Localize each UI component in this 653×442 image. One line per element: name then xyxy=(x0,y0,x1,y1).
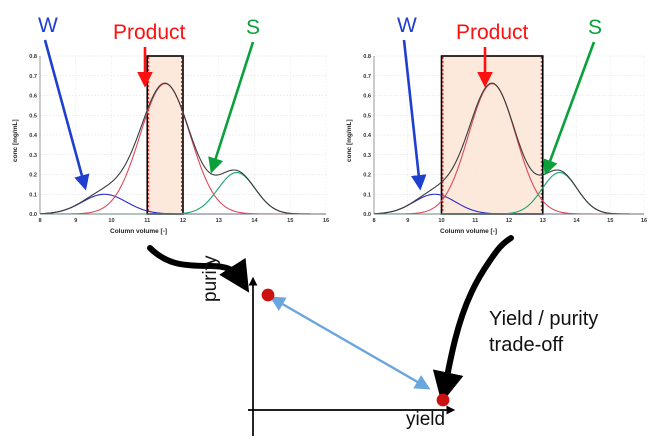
collection-window xyxy=(147,56,183,214)
peak-label-s-left: S xyxy=(246,17,260,38)
svg-text:0.8: 0.8 xyxy=(363,54,371,60)
svg-text:9: 9 xyxy=(74,218,77,224)
tradeoff-y-axis-label: purity xyxy=(200,256,222,302)
svg-text:0.4: 0.4 xyxy=(363,133,372,139)
svg-text:15: 15 xyxy=(287,218,293,224)
tradeoff-point-high-purity xyxy=(262,289,275,302)
svg-text:0.1: 0.1 xyxy=(363,192,371,198)
tradeoff-caption-line2: trade-off xyxy=(489,333,649,359)
svg-text:0.7: 0.7 xyxy=(29,74,37,80)
svg-text:0.8: 0.8 xyxy=(29,54,37,60)
svg-text:0.0: 0.0 xyxy=(29,212,37,218)
svg-text:14: 14 xyxy=(573,218,580,224)
svg-text:0.7: 0.7 xyxy=(363,74,371,80)
tradeoff-caption: Yield / purity trade-off xyxy=(489,307,649,358)
svg-text:0.5: 0.5 xyxy=(29,113,37,119)
svg-text:12: 12 xyxy=(506,218,512,224)
svg-text:0.0: 0.0 xyxy=(363,212,371,218)
svg-text:0.1: 0.1 xyxy=(29,192,37,198)
svg-text:14: 14 xyxy=(251,218,258,224)
svg-text:10: 10 xyxy=(438,218,444,224)
svg-text:16: 16 xyxy=(641,218,647,224)
svg-text:8: 8 xyxy=(38,218,41,224)
collection-window xyxy=(442,56,543,214)
svg-text:0.3: 0.3 xyxy=(363,153,371,159)
tradeoff-caption-line1: Yield / purity xyxy=(489,307,649,333)
svg-text:0.5: 0.5 xyxy=(363,113,371,119)
svg-text:0.6: 0.6 xyxy=(29,94,37,100)
chromatogram-wide-cut-svg: 0.00.10.20.30.40.50.60.70.88910111213141… xyxy=(348,50,648,240)
svg-text:0.4: 0.4 xyxy=(29,133,38,139)
tradeoff-x-axis-label: yield xyxy=(406,409,445,431)
svg-text:8: 8 xyxy=(372,218,375,224)
peak-label-w-left: W xyxy=(38,15,58,36)
svg-text:16: 16 xyxy=(323,218,329,224)
flow-arrow-left-to-purity-point xyxy=(150,248,243,283)
tradeoff-connector-arrow xyxy=(272,298,428,388)
svg-text:0.3: 0.3 xyxy=(29,153,37,159)
svg-text:0.2: 0.2 xyxy=(29,173,37,179)
figure-canvas: 0.00.10.20.30.40.50.60.70.88910111213141… xyxy=(0,0,653,442)
svg-text:10: 10 xyxy=(108,218,114,224)
peak-label-w-right: W xyxy=(397,15,417,36)
svg-text:13: 13 xyxy=(216,218,222,224)
chromatogram-narrow-cut-svg: 0.00.10.20.30.40.50.60.70.88910111213141… xyxy=(14,50,330,240)
tradeoff-point-high-yield xyxy=(437,394,450,407)
svg-text:15: 15 xyxy=(607,218,613,224)
svg-text:0.6: 0.6 xyxy=(363,94,371,100)
peak-label-product-right: Product xyxy=(456,22,528,43)
svg-text:11: 11 xyxy=(472,218,478,224)
svg-text:12: 12 xyxy=(180,218,186,224)
chromatogram-narrow-cut: 0.00.10.20.30.40.50.60.70.88910111213141… xyxy=(14,50,330,240)
peak-label-s-right: S xyxy=(588,17,602,38)
peak-label-product-left: Product xyxy=(113,22,185,43)
svg-text:11: 11 xyxy=(144,218,150,224)
svg-text:0.2: 0.2 xyxy=(363,173,371,179)
chromatogram-wide-cut: 0.00.10.20.30.40.50.60.70.88910111213141… xyxy=(348,50,648,240)
svg-text:13: 13 xyxy=(540,218,546,224)
svg-text:9: 9 xyxy=(406,218,409,224)
